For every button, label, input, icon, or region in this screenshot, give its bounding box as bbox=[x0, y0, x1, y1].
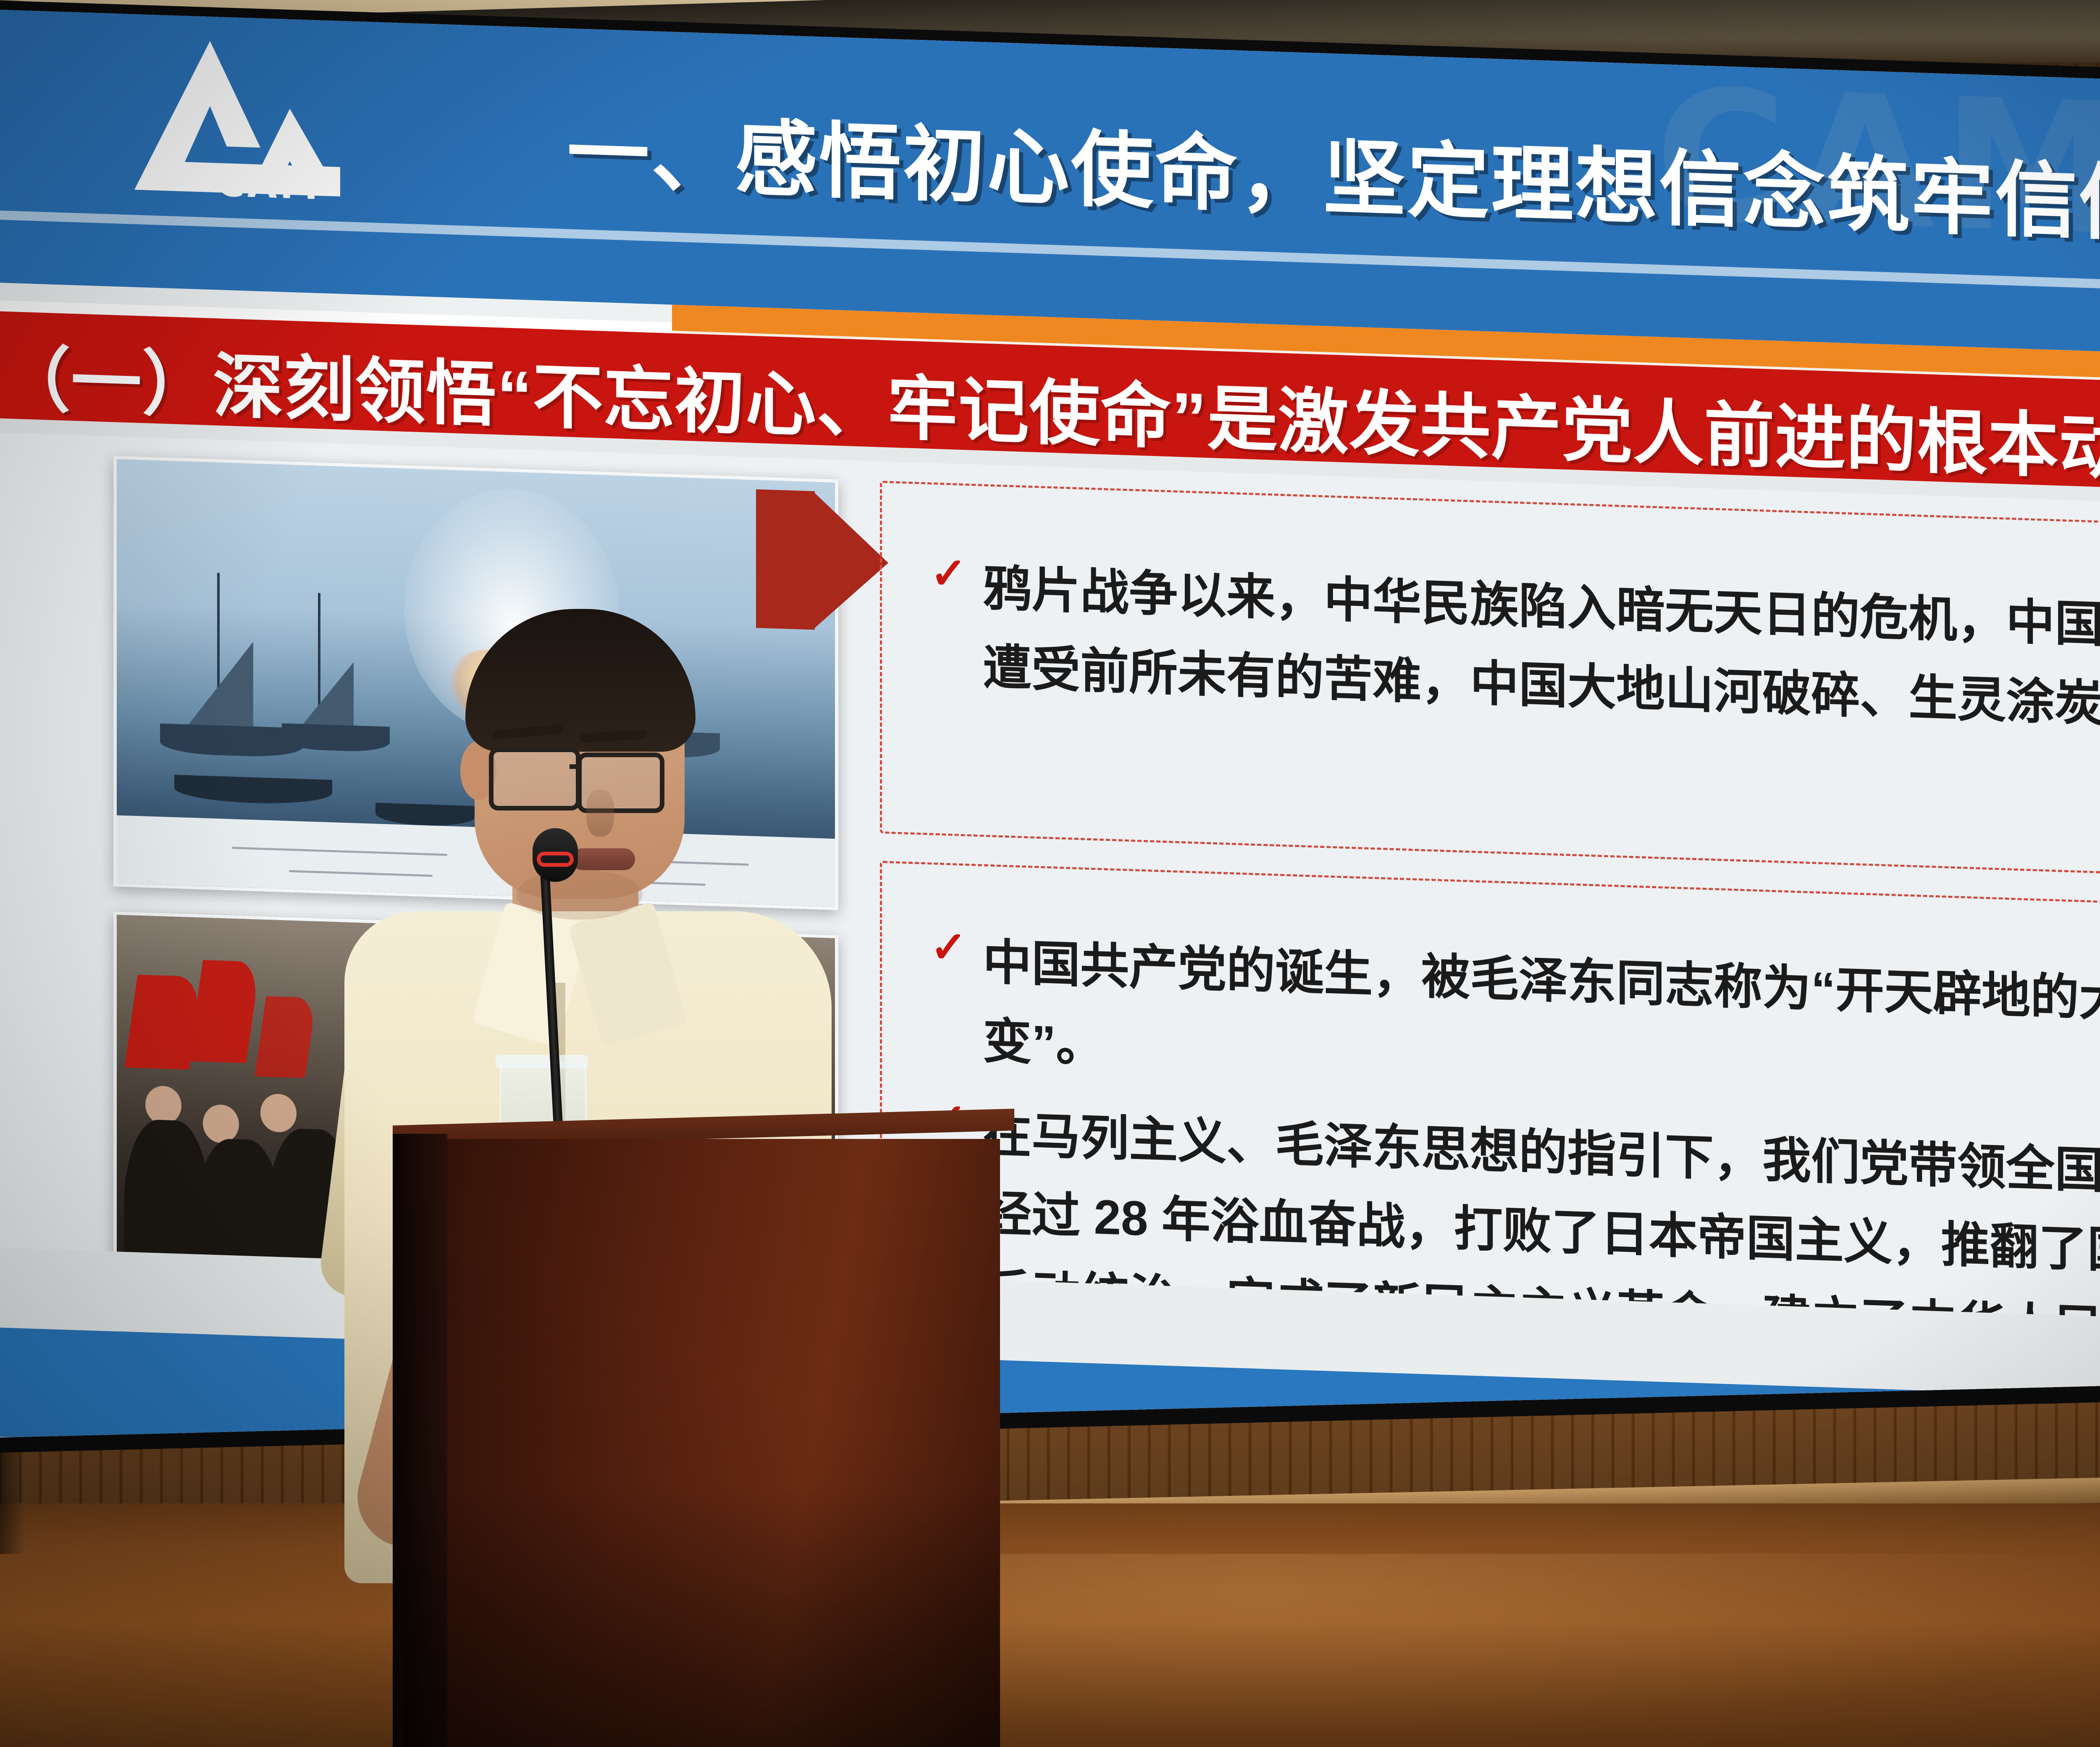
presentation-slide: CAM CAM 一、感悟初心使命，坚定理想信念筑牢信仰之基 （一）深刻领悟“不忘… bbox=[0, 0, 2100, 1453]
svg-text:CAM: CAM bbox=[216, 160, 320, 208]
red-arrow-stem bbox=[756, 489, 815, 630]
podium-shadow bbox=[404, 1487, 1000, 1747]
nose bbox=[586, 790, 614, 837]
microphone-led-ring-icon bbox=[537, 852, 574, 867]
chin bbox=[517, 869, 643, 920]
conference-room-scene: CAM CAM 一、感悟初心使命，坚定理想信念筑牢信仰之基 （一）深刻领悟“不忘… bbox=[0, 0, 2100, 1747]
eyeglasses-left-lens bbox=[489, 748, 580, 811]
red-arrow-icon bbox=[813, 491, 888, 632]
eyeglasses-bridge bbox=[570, 764, 581, 769]
mouth bbox=[571, 848, 635, 870]
wooden-podium bbox=[393, 1109, 1014, 1747]
check-icon: ✓ bbox=[930, 548, 967, 601]
projection-screen: CAM CAM 一、感悟初心使命，坚定理想信念筑牢信仰之基 （一）深刻领悟“不忘… bbox=[0, 0, 2100, 1453]
cam-logo-icon: CAM bbox=[122, 21, 357, 226]
